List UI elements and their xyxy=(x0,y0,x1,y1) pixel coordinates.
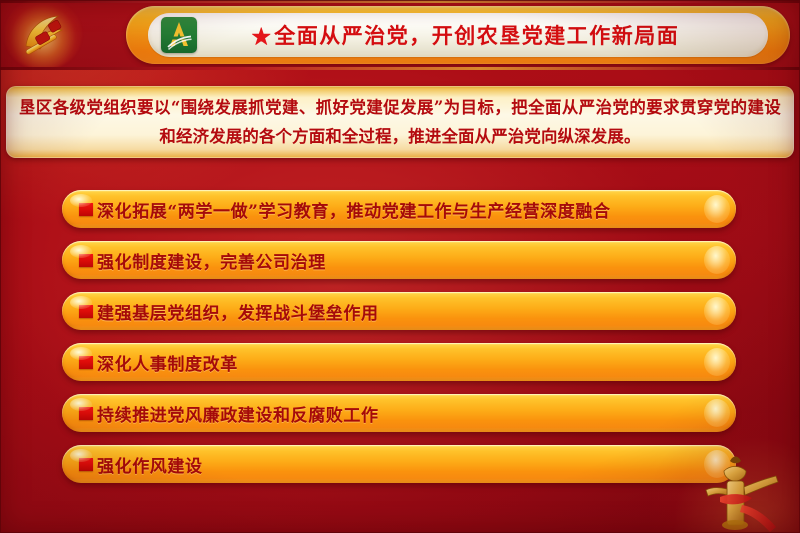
list-item[interactable]: 深化人事制度改革 xyxy=(62,343,736,381)
list-item-label: 持续推进党风廉政建设和反腐败工作 xyxy=(97,401,379,426)
bullet-list: 深化拓展“两学一做”学习教育，推动党建工作与生产经营深度融合 强化制度建设，完善… xyxy=(62,190,742,496)
title-capsule-inner: ★全面从严治党，开创农垦党建工作新局面 xyxy=(148,13,768,57)
square-bullet-icon xyxy=(79,407,93,420)
title-capsule: ★全面从严治党，开创农垦党建工作新局面 xyxy=(126,6,790,64)
golden-drummer-figure-icon xyxy=(686,435,782,533)
square-bullet-icon xyxy=(79,356,93,369)
star-icon: ★ xyxy=(252,26,273,48)
hammer-and-sickle-icon xyxy=(12,6,74,62)
slide-canvas: ★全面从严治党，开创农垦党建工作新局面 垦区各级党组织要以“围绕发展抓党建、抓好… xyxy=(0,0,800,533)
nongken-green-logo-icon xyxy=(161,17,197,53)
list-item-label: 强化作风建设 xyxy=(97,452,203,477)
list-item-label: 深化人事制度改革 xyxy=(97,350,238,375)
list-item-label: 强化制度建设，完善公司治理 xyxy=(97,248,326,273)
list-item[interactable]: 深化拓展“两学一做”学习教育，推动党建工作与生产经营深度融合 xyxy=(62,190,736,228)
list-item-label: 建强基层党组织，发挥战斗堡垒作用 xyxy=(97,299,379,324)
header-bottom-rule xyxy=(0,67,800,70)
square-bullet-icon xyxy=(79,203,93,216)
list-item[interactable]: 建强基层党组织，发挥战斗堡垒作用 xyxy=(62,292,736,330)
summary-text: 垦区各级党组织要以“围绕发展抓党建、抓好党建促发展”为目标，把全面从严治党的要求… xyxy=(19,93,781,151)
list-item-label: 深化拓展“两学一做”学习教育，推动党建工作与生产经营深度融合 xyxy=(97,197,611,222)
list-item[interactable]: 强化作风建设 xyxy=(62,445,736,483)
list-item[interactable]: 持续推进党风廉政建设和反腐败工作 xyxy=(62,394,736,432)
header-band: ★全面从严治党，开创农垦党建工作新局面 xyxy=(0,0,800,70)
summary-banner: 垦区各级党组织要以“围绕发展抓党建、抓好党建促发展”为目标，把全面从严治党的要求… xyxy=(6,86,794,158)
square-bullet-icon xyxy=(79,254,93,267)
page-title-text: 全面从严治党，开创农垦党建工作新局面 xyxy=(274,23,679,48)
header-top-rule xyxy=(0,0,800,3)
square-bullet-icon xyxy=(79,458,93,471)
page-title: ★全面从严治党，开创农垦党建工作新局面 xyxy=(197,20,768,50)
list-item[interactable]: 强化制度建设，完善公司治理 xyxy=(62,241,736,279)
square-bullet-icon xyxy=(79,305,93,318)
